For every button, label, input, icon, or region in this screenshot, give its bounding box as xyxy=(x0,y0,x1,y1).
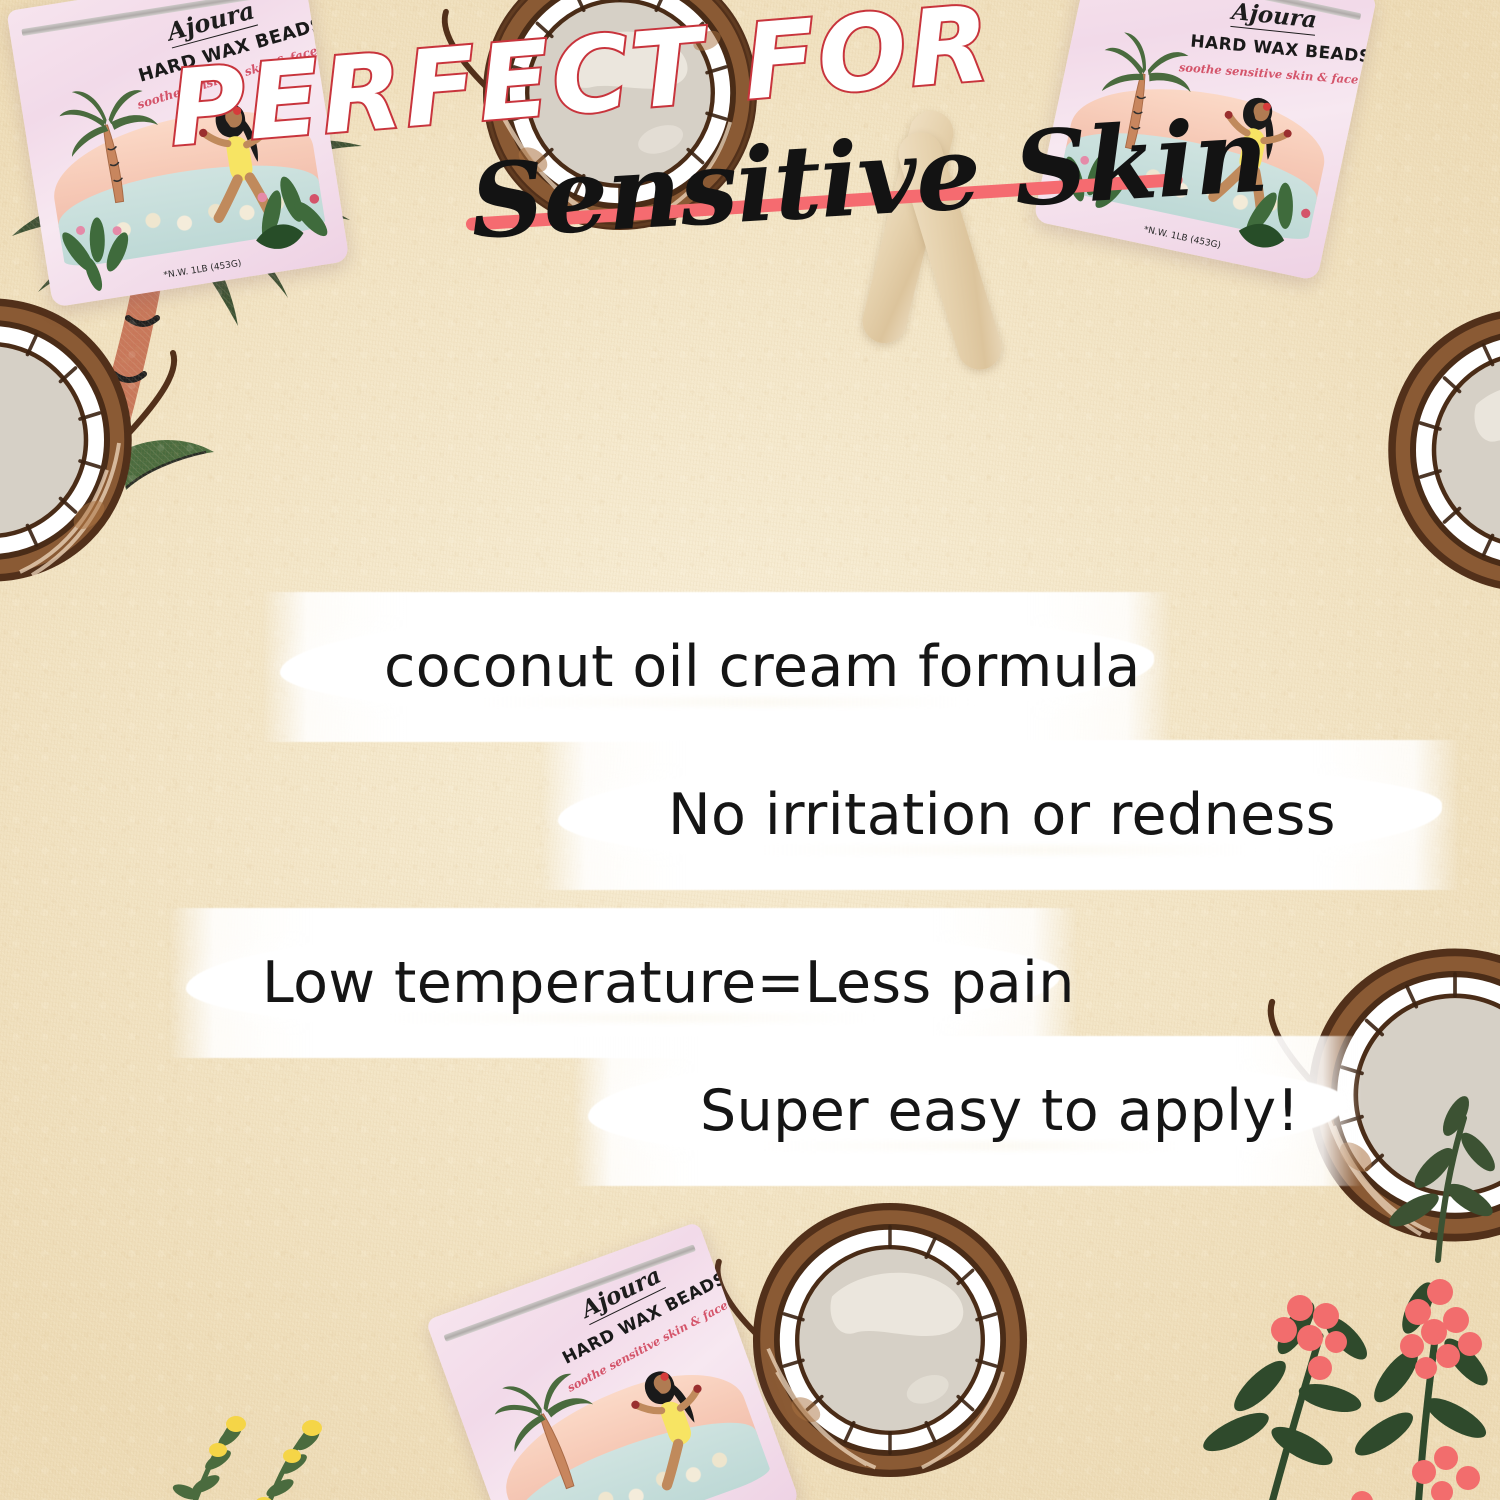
pouch-net-weight: *N.W. 1LB (453G) xyxy=(1143,225,1222,251)
pouch-net-weight: *N.W. 1LB (453G) xyxy=(163,259,242,281)
feature-row-4: Super easy to apply! xyxy=(572,1036,1362,1186)
coconut-illustration-right-upper xyxy=(1380,300,1500,600)
coconut-illustration-bottom-center xyxy=(745,1195,1035,1485)
pouch-brand-name: Ajoura xyxy=(1230,0,1318,36)
feature-text-1: coconut oil cream formula xyxy=(262,592,1172,742)
feature-row-2: No irritation or redness xyxy=(540,740,1460,890)
promo-canvas: Ajoura HARD WAX BEADS soothe sensitive s… xyxy=(0,0,1500,1500)
feature-text-2: No irritation or redness xyxy=(540,740,1460,890)
pouch-foliage-right xyxy=(232,158,342,268)
pouch-zip-seal xyxy=(443,1244,696,1343)
pouch-foliage-left xyxy=(47,197,150,300)
coconut-illustration-left-edge xyxy=(0,290,140,590)
yellow-flower-sprig-left xyxy=(160,1380,350,1500)
berry-branch-illustration-right xyxy=(1150,1220,1500,1500)
feature-row-1: coconut oil cream formula xyxy=(262,592,1172,742)
feature-text-4: Super easy to apply! xyxy=(572,1036,1362,1186)
